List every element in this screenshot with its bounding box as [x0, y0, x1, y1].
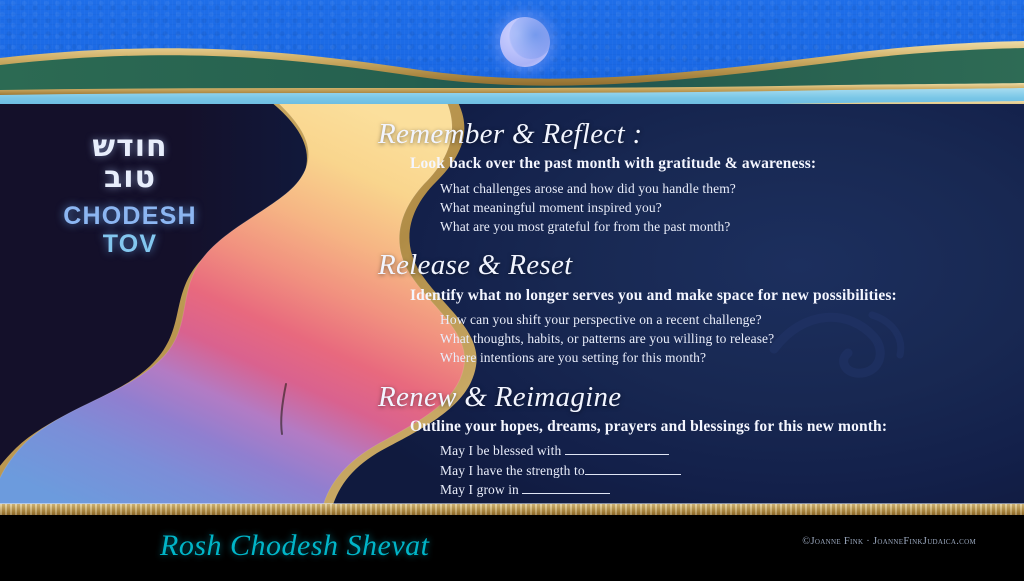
reflection-sections: Remember & Reflect : Look back over the … — [378, 118, 998, 499]
prompt-text: How can you shift your perspective on a … — [440, 312, 762, 327]
landscape-bands — [0, 0, 1024, 120]
section-prompt-list: How can you shift your perspective on a … — [378, 310, 998, 367]
fill-in-blank[interactable] — [585, 474, 681, 475]
footer-bar — [0, 515, 1024, 581]
prompt-text: May I be blessed with — [440, 443, 565, 458]
footer-title: Rosh Chodesh Shevat — [160, 529, 429, 563]
list-item: Where intentions are you setting for thi… — [440, 348, 998, 367]
section-remember-reflect: Remember & Reflect : Look back over the … — [378, 118, 998, 236]
prompt-text: What challenges arose and how did you ha… — [440, 181, 736, 196]
poster-canvas: חודש טוב CHODESH TOV Remember & Reflect … — [0, 0, 1024, 581]
logo-line-chodesh: CHODESH — [63, 202, 196, 230]
list-item: What challenges arose and how did you ha… — [440, 179, 998, 198]
chodesh-tov-logo: חודש טוב CHODESH TOV — [42, 132, 218, 258]
hebrew-line-2: טוב — [42, 163, 218, 194]
prompt-text: May I grow in — [440, 482, 522, 497]
prompt-text: What meaningful moment inspired you? — [440, 200, 662, 215]
prompt-text: May I have the strength to — [440, 463, 585, 478]
list-item: How can you shift your perspective on a … — [440, 310, 998, 329]
section-prompt-list: What challenges arose and how did you ha… — [378, 179, 998, 236]
prompt-text: What are you most grateful for from the … — [440, 219, 730, 234]
list-item: What thoughts, habits, or patterns are y… — [440, 329, 998, 348]
list-item: What meaningful moment inspired you? — [440, 198, 998, 217]
section-release-reset: Release & Reset Identify what no longer … — [378, 249, 998, 367]
prompt-text: Where intentions are you setting for thi… — [440, 350, 706, 365]
logo-line-tov: TOV — [42, 230, 218, 258]
gold-divider-rule — [0, 504, 1024, 515]
section-prompt-list: May I be blessed with May I have the str… — [378, 441, 998, 498]
list-item: May I be blessed with — [440, 441, 998, 460]
section-subtitle: Look back over the past month with grati… — [410, 154, 998, 173]
footer-credit: ©Joanne Fink · JoanneFinkJudaica.com — [802, 536, 976, 547]
section-subtitle: Identify what no longer serves you and m… — [410, 286, 998, 305]
list-item: May I have the strength to — [440, 461, 998, 480]
list-item: May I grow in — [440, 480, 998, 499]
section-title: Remember & Reflect : — [378, 118, 998, 150]
section-renew-reimagine: Renew & Reimagine Outline your hopes, dr… — [378, 381, 998, 499]
english-chodesh-tov: CHODESH TOV — [42, 202, 218, 258]
hebrew-line-1: חודש — [92, 129, 167, 164]
hebrew-chodesh-tov: חודש טוב — [42, 132, 218, 193]
section-subtitle: Outline your hopes, dreams, prayers and … — [410, 417, 998, 436]
list-item: What are you most grateful for from the … — [440, 217, 998, 236]
section-title: Renew & Reimagine — [378, 381, 998, 413]
prompt-text: What thoughts, habits, or patterns are y… — [440, 331, 774, 346]
fill-in-blank[interactable] — [565, 454, 669, 455]
fill-in-blank[interactable] — [522, 493, 610, 494]
section-title: Release & Reset — [378, 249, 998, 281]
